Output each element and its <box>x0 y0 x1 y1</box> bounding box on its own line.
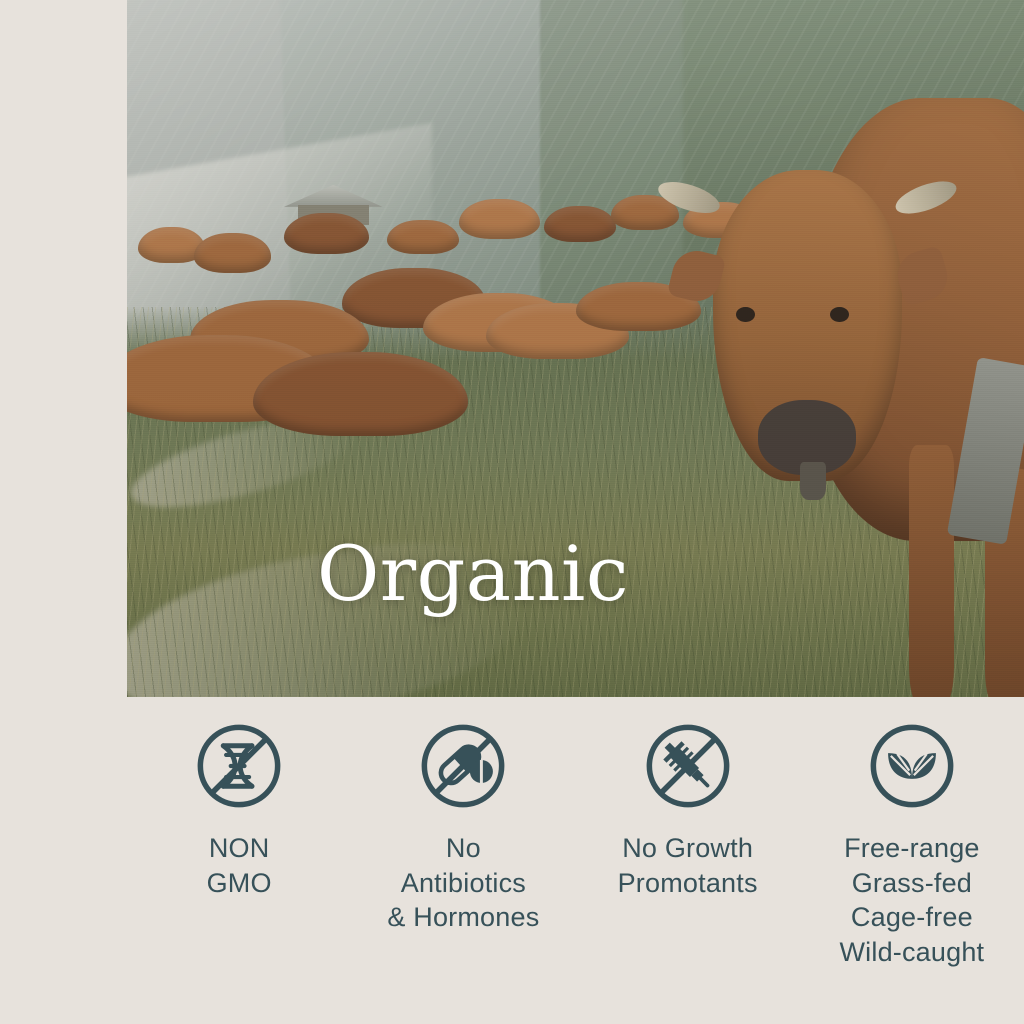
badge-label-line: Cage-free <box>839 900 984 935</box>
page-title: Organic <box>317 536 629 612</box>
no-antibiotics-pills-icon <box>417 720 509 812</box>
badge-label-line: Free-range <box>839 831 984 866</box>
badge-no-antibiotics[interactable]: No Antibiotics & Hormones <box>351 720 575 935</box>
badge-label-line: No Growth <box>618 831 758 866</box>
badge-label-line: Grass-fed <box>839 866 984 901</box>
badge-free-range[interactable]: Free-range Grass-fed Cage-free Wild-caug… <box>800 720 1024 969</box>
badge-label: No Growth Promotants <box>618 831 758 900</box>
badge-label: No Antibiotics & Hormones <box>387 831 539 935</box>
badge-label: NON GMO <box>207 831 272 900</box>
badge-label-line: No <box>387 831 539 866</box>
badge-label-line: GMO <box>207 866 272 901</box>
badge-label-line: Promotants <box>618 866 758 901</box>
no-growth-promotants-syringe-icon <box>642 720 734 812</box>
badge-label-line: Wild-caught <box>839 935 984 970</box>
hero-photo: Organic <box>127 0 1024 697</box>
leaves-icon <box>866 720 958 812</box>
badge-label-line: Antibiotics <box>387 866 539 901</box>
badge-non-gmo[interactable]: NON GMO <box>127 720 351 900</box>
badge-label-line: NON <box>207 831 272 866</box>
certification-badge-row: NON GMO No Antibiotics & Hormones <box>127 720 1024 969</box>
badge-label: Free-range Grass-fed Cage-free Wild-caug… <box>839 831 984 969</box>
badge-label-line: & Hormones <box>387 900 539 935</box>
badge-no-growth-promotants[interactable]: No Growth Promotants <box>576 720 800 900</box>
no-gmo-dna-icon <box>193 720 285 812</box>
